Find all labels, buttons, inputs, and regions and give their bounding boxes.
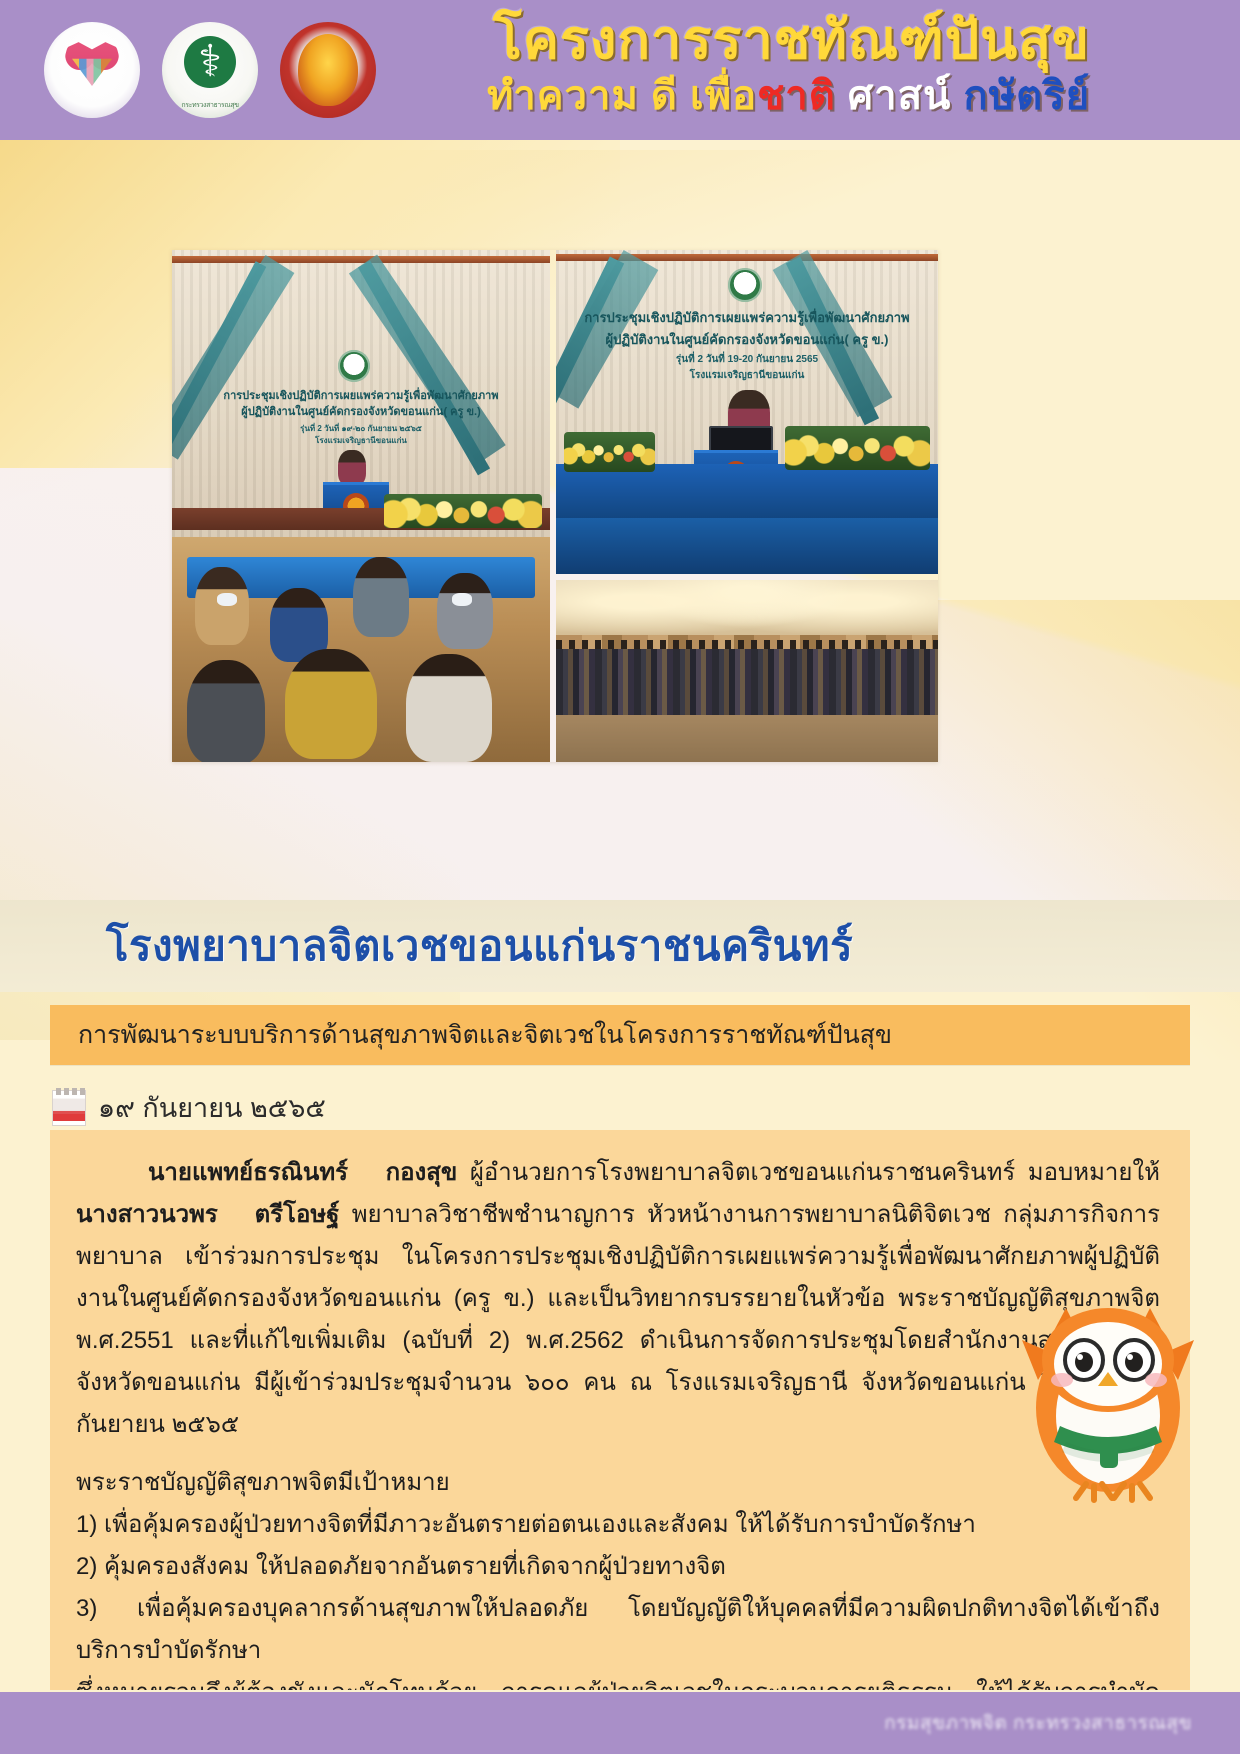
publication-date: ๑๙ กันยายน ๒๕๖๕ — [98, 1086, 326, 1129]
project-title: โครงการราชทัณฑ์ปันสุข — [430, 12, 1090, 69]
photo1-banner-line3: รุ่นที่ 2 วันที่ ๑๙-๒๐ กันยายน ๒๕๖๕ — [172, 424, 550, 434]
photo1-mask-2 — [452, 593, 472, 606]
paragraph-2-rest: พยาบาลวิชาชีพชำนาญการ หัวหน้างานการพยาบา… — [76, 1201, 1160, 1438]
calendar-icon — [52, 1090, 86, 1126]
photo1-banner-line4: โรงแรมเจริญธานีขอนแก่น — [172, 436, 550, 446]
photo-group-hall[interactable] — [556, 580, 938, 762]
project-motto: ทำความ ดี เพื่อชาติ ศาสน์ กษัตริย์ — [430, 73, 1090, 119]
page-footer: กรมสุขภาพจิต กระทรวงสาธารณสุข — [0, 1692, 1240, 1754]
photo1-banner-line2: ผู้ปฏิบัติงานในศูนย์คัดกรองจังหวัดขอนแก่… — [172, 406, 550, 420]
photo1-flowers — [384, 494, 543, 528]
moh-seal-icon — [338, 350, 370, 382]
header-logo-group: กระทรวงสาธารณสุข — [44, 22, 376, 118]
photo-collage: การประชุมเชิงปฏิบัติการเผยแพร่ความรู้เพื… — [172, 250, 938, 762]
photo2-banner-line1: การประชุมเชิงปฏิบัติการเผยแพร่ความรู้เพื… — [556, 310, 938, 326]
director-name: นายแพทย์ธรณินทร์ — [148, 1159, 348, 1186]
publication-date-row: ๑๙ กันยายน ๒๕๖๕ — [52, 1086, 326, 1129]
moh-seal-icon-2 — [728, 268, 762, 302]
hospital-name-band: โรงพยาบาลจิตเวชขอนแก่นราชนครินทร์ — [0, 900, 1240, 992]
department-of-corrections-emblem-icon — [280, 22, 376, 118]
photo2-front-table — [556, 518, 938, 574]
photo1-person-4 — [437, 573, 493, 649]
photo-stage-closeup[interactable]: การประชุมเชิงปฏิบัติการเผยแพร่ความรู้เพื… — [556, 250, 938, 574]
photo2-flowers-right — [785, 426, 930, 470]
page-title: โรงพยาบาลจิตเวชขอนแก่นราชนครินทร์ — [106, 913, 853, 979]
photo2-banner-line3: รุ่นที่ 2 วันที่ 19-20 กันยายน 2565 — [556, 354, 938, 367]
photo1-person-front-right — [406, 654, 492, 762]
assignee-surname: ตรีโอษฐ์ — [255, 1201, 340, 1228]
photo2-banner-line4: โรงแรมเจริญธานีขอนแก่น — [556, 370, 938, 383]
photo1-mask-1 — [217, 593, 237, 606]
page-header: กระทรวงสาธารณสุข โครงการราชทัณฑ์ปันสุข ท… — [0, 0, 1240, 140]
director-surname: กองสุข — [386, 1159, 458, 1186]
stage-rail — [172, 256, 550, 263]
photo2-banner-line2: ผู้ปฏิบัติงานในศูนย์คัดกรองจังหวัดขอนแก่… — [556, 332, 938, 348]
hall-crowd — [556, 649, 938, 715]
photo1-person-3 — [353, 557, 409, 637]
owl-mascot-icon — [1014, 1288, 1202, 1504]
goals-heading: พระราชบัญญัติสุขภาพจิตมีเป้าหมาย — [76, 1462, 1160, 1504]
owl-mascot — [1014, 1288, 1202, 1504]
photo2-head-table — [556, 464, 938, 520]
motto-part-2: ชาติ — [757, 74, 836, 118]
photo1-person-front-yellow — [285, 649, 377, 759]
photo1-speaker — [338, 450, 366, 486]
article-subtitle: การพัฒนาระบบบริการด้านสุขภาพจิตและจิตเวช… — [78, 1015, 892, 1055]
motto-part-1: ทำความ ดี เพื่อ — [487, 74, 757, 118]
motto-part-3: ศาสน์ — [836, 74, 964, 118]
photo2-flowers-left — [564, 432, 656, 472]
goal-item-1: 1) เพื่อคุ้มครองผู้ป่วยทางจิตที่มีภาวะอั… — [76, 1504, 1160, 1546]
goal-item-2: 2) คุ้มครองสังคม ให้ปลอดภัยจากอันตรายที่… — [76, 1546, 1160, 1588]
hall-flower-row — [556, 718, 938, 762]
photo1-banner-line1: การประชุมเชิงปฏิบัติการเผยแพร่ความรู้เพื… — [172, 390, 550, 404]
ministry-of-public-health-emblem-icon: กระทรวงสาธารณสุข — [162, 22, 258, 118]
goals-continuation: ซึ่งหมายรวมถึงผู้ต้องขังและนักโทษด้วย กา… — [76, 1672, 1160, 1690]
header-title-block: โครงการราชทัณฑ์ปันสุข ทำความ ดี เพื่อชาต… — [430, 12, 1090, 119]
assignee-name: นางสาวนวพร — [76, 1201, 218, 1228]
royal-project-emblem-icon — [44, 22, 140, 118]
article-paragraph-1: นายแพทย์ธรณินทร์ กองสุข ผู้อำนวยการโรงพย… — [76, 1152, 1160, 1446]
motto-part-4: กษัตริย์ — [964, 74, 1090, 118]
goal-item-3: 3) เพื่อคุ้มครองบุคลากรด้านสุขภาพให้ปลอด… — [76, 1588, 1160, 1672]
photo1-person-front-left — [187, 660, 265, 762]
photo-stage-wide[interactable]: การประชุมเชิงปฏิบัติการเผยแพร่ความรู้เพื… — [172, 250, 550, 762]
photo1-person-1 — [195, 567, 249, 645]
subtitle-bar: การพัฒนาระบบบริการด้านสุขภาพจิตและจิตเวช… — [50, 1005, 1190, 1065]
ministry-logo-caption: กระทรวงสาธารณสุข — [162, 102, 258, 110]
paragraph-1-rest: ผู้อำนวยการโรงพยาบาลจิตเวชขอนแก่นราชนคริ… — [470, 1159, 1160, 1186]
footer-organization: กรมสุขภาพจิต กระทรวงสาธารณสุข — [884, 1708, 1192, 1738]
